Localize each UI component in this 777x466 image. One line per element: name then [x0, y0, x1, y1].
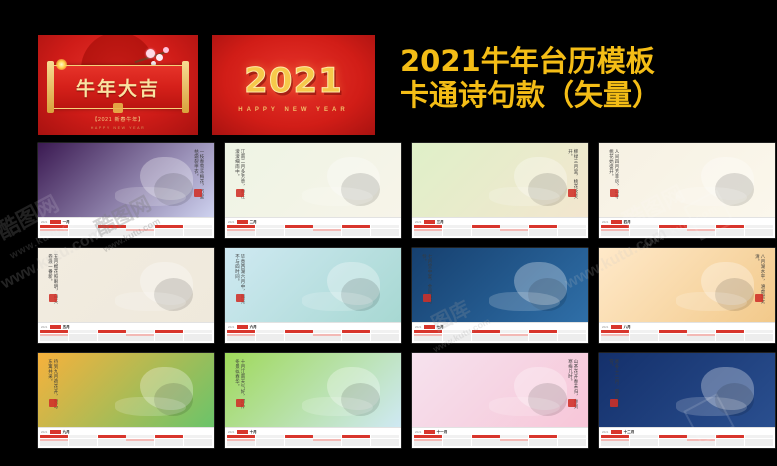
seal-icon	[236, 189, 244, 197]
calendar-strip: 2021十月	[225, 427, 401, 448]
calendar-date-cells	[529, 229, 557, 236]
calendar-week-header	[443, 435, 471, 438]
calendar-week-column[interactable]	[687, 330, 715, 341]
calendar-week-column[interactable]	[716, 435, 744, 446]
calendar-week-column[interactable]	[659, 435, 687, 446]
calendar-week-column[interactable]	[126, 435, 154, 446]
calendar-strip-header: 2021五月	[41, 325, 70, 330]
calendar-date-cell[interactable]	[98, 444, 126, 446]
calendar-week-header	[659, 435, 687, 438]
calendar-date-cell[interactable]	[285, 339, 313, 341]
calendar-date-cell[interactable]	[256, 444, 284, 446]
calendar-week-column[interactable]	[414, 435, 442, 446]
calendar-date-cell[interactable]	[500, 339, 528, 341]
calendar-week-header	[443, 330, 471, 333]
calendar-date-cell[interactable]	[227, 339, 255, 341]
calendar-date-cell[interactable]	[184, 444, 212, 446]
calendar-week-column[interactable]	[500, 330, 528, 341]
calendar-week-header	[745, 330, 773, 333]
calendar-date-cells	[687, 334, 715, 341]
cover-ox-thumbnail[interactable]: 牛年大吉 【2021 新春牛年】 HAPPY NEW YEAR	[38, 35, 198, 135]
calendar-date-cell[interactable]	[285, 234, 313, 236]
calendar-week-column[interactable]	[659, 225, 687, 236]
calendar-date-cell[interactable]	[98, 234, 126, 236]
calendar-date-cell[interactable]	[716, 234, 744, 236]
calendar-date-cell[interactable]	[126, 444, 154, 446]
calendar-date-cells	[342, 229, 370, 236]
calendar-date-cell[interactable]	[443, 234, 471, 236]
calendar-week-column[interactable]	[414, 330, 442, 341]
calendar-week-column[interactable]	[285, 225, 313, 236]
calendar-date-cell[interactable]	[472, 444, 500, 446]
seal-icon	[236, 399, 244, 407]
calendar-strip: 2021五月	[38, 322, 214, 343]
calendar-date-cell[interactable]	[472, 234, 500, 236]
calendar-date-cells	[285, 334, 313, 341]
calendar-page-7[interactable]: 七月堂中宴，金风满可怜。2021七月	[412, 248, 588, 343]
calendar-date-grid	[40, 435, 212, 446]
calendar-week-header	[558, 435, 586, 438]
calendar-strip: 2021二月	[225, 217, 401, 238]
calendar-date-cell[interactable]	[155, 444, 183, 446]
calendar-week-header	[500, 225, 528, 228]
seal-icon	[568, 189, 576, 197]
calendar-date-cells	[414, 439, 442, 446]
calendar-date-cell[interactable]	[313, 234, 341, 236]
calendar-date-grid	[414, 225, 586, 236]
page-title: 2021牛年台历模板 卡通诗句款（矢量）	[400, 44, 768, 112]
calendar-week-header	[630, 225, 658, 228]
calendar-week-column[interactable]	[285, 330, 313, 341]
calendar-date-cell[interactable]	[558, 234, 586, 236]
calendar-week-header	[256, 330, 284, 333]
calendar-date-cell[interactable]	[601, 339, 629, 341]
calendar-artwork-green-tree-desk-scholar: 五月榴花照眼明，白天卷浪一番新。	[38, 248, 214, 323]
calendar-month-label: 四月	[624, 220, 631, 225]
calendar-strip: 2021九月	[38, 427, 214, 448]
calendar-date-cell[interactable]	[414, 234, 442, 236]
calendar-strip: 2021一月	[38, 217, 214, 238]
calendar-year-label: 2021	[41, 326, 48, 329]
calendar-page-1[interactable]: 一枝春雪冻梅花，万里枯霜裂甲衣。2021一月	[38, 143, 214, 238]
calendar-date-cell[interactable]	[227, 234, 255, 236]
calendar-date-cell[interactable]	[69, 339, 97, 341]
calendar-date-cells	[69, 229, 97, 236]
calendar-date-cells	[371, 439, 399, 446]
calendar-week-header	[414, 225, 442, 228]
calendar-strip-header: 2021六月	[228, 325, 257, 330]
calendar-strip: 2021十二月	[599, 427, 775, 448]
calendar-artwork-kite-spring-hills: 江南二月多芳草，春在濛濛细雨中。	[225, 143, 401, 218]
calendar-date-cell[interactable]	[558, 339, 586, 341]
calendar-week-column[interactable]	[184, 435, 212, 446]
cover-ox-subtitle-cn: 【2021 新春牛年】	[38, 116, 198, 123]
calendar-week-header	[285, 330, 313, 333]
calendar-week-column[interactable]	[69, 225, 97, 236]
calendar-week-header	[126, 435, 154, 438]
calendar-week-header	[184, 330, 212, 333]
calendar-date-cell[interactable]	[155, 234, 183, 236]
calendar-date-cell[interactable]	[126, 234, 154, 236]
seal-icon	[49, 399, 57, 407]
lantern-glow-icon	[56, 59, 67, 70]
calendar-date-cells	[472, 439, 500, 446]
calendar-strip-header: 2021一月	[41, 220, 70, 225]
calendar-artwork-lotus-leaf-piglet-lake: 八月湖水平，涵虚混太清。	[599, 248, 775, 323]
calendar-week-column[interactable]	[745, 330, 773, 341]
calendar-date-cell[interactable]	[630, 234, 658, 236]
calendar-strip-header: 2021十一月	[415, 430, 447, 435]
calendar-week-header	[601, 330, 629, 333]
calendar-week-column[interactable]	[601, 225, 629, 236]
calendar-month-label: 七月	[437, 325, 444, 330]
calendar-week-column[interactable]	[414, 225, 442, 236]
calendar-strip-header: 2021二月	[228, 220, 257, 225]
calendar-date-cell[interactable]	[601, 234, 629, 236]
calendar-date-cells	[342, 334, 370, 341]
calendar-date-cell[interactable]	[687, 339, 715, 341]
calendar-week-column[interactable]	[98, 435, 126, 446]
calendar-date-cells	[529, 334, 557, 341]
calendar-page-11[interactable]: 山茶花开春未归，春到寒梅几时。2021十一月	[412, 353, 588, 448]
calendar-page-9[interactable]: 待到九月荷花开，我与东篱共采。2021九月	[38, 353, 214, 448]
calendar-week-column[interactable]	[371, 225, 399, 236]
calendar-date-cell[interactable]	[443, 444, 471, 446]
calendar-date-cells	[745, 334, 773, 341]
calendar-week-header	[472, 330, 500, 333]
calendar-week-column[interactable]	[126, 225, 154, 236]
calendar-date-cell[interactable]	[371, 339, 399, 341]
calendar-date-cells	[659, 439, 687, 446]
calendar-week-header	[371, 225, 399, 228]
calendar-date-cell[interactable]	[40, 339, 68, 341]
calendar-week-header	[227, 330, 255, 333]
calendar-week-column[interactable]	[716, 330, 744, 341]
calendar-week-column[interactable]	[184, 225, 212, 236]
calendar-week-column[interactable]	[558, 435, 586, 446]
artwork-shape-3	[676, 292, 746, 312]
calendar-date-cells	[256, 229, 284, 236]
calendar-week-column[interactable]	[472, 225, 500, 236]
calendar-week-header	[630, 330, 658, 333]
calendar-week-column[interactable]	[472, 435, 500, 446]
calendar-date-cells	[184, 439, 212, 446]
calendar-date-cells	[155, 334, 183, 341]
calendar-date-cells	[40, 229, 68, 236]
calendar-week-column[interactable]	[155, 225, 183, 236]
calendar-date-cell[interactable]	[500, 234, 528, 236]
calendar-week-column[interactable]	[529, 225, 557, 236]
calendar-strip-header: 2021四月	[602, 220, 631, 225]
calendar-week-column[interactable]	[745, 225, 773, 236]
calendar-date-cells	[630, 229, 658, 236]
calendar-year-label: 2021	[602, 221, 609, 224]
calendar-date-cell[interactable]	[630, 339, 658, 341]
calendar-date-cell[interactable]	[256, 234, 284, 236]
calendar-month-label: 三月	[437, 220, 444, 225]
calendar-page-8[interactable]: 八月湖水平，涵虚混太清。2021八月	[599, 248, 775, 343]
calendar-date-cell[interactable]	[40, 234, 68, 236]
calendar-week-header	[529, 330, 557, 333]
calendar-week-column[interactable]	[745, 435, 773, 446]
calendar-week-header	[716, 435, 744, 438]
calendar-page-5[interactable]: 五月榴花照眼明，白天卷浪一番新。2021五月	[38, 248, 214, 343]
calendar-week-column[interactable]	[529, 435, 557, 446]
calendar-week-column[interactable]	[69, 435, 97, 446]
calendar-date-cells	[558, 334, 586, 341]
calendar-date-cells	[155, 439, 183, 446]
calendar-week-header	[40, 225, 68, 228]
calendar-year-label: 2021	[228, 326, 235, 329]
calendar-week-column[interactable]	[256, 435, 284, 446]
calendar-strip: 2021八月	[599, 322, 775, 343]
calendar-date-cell[interactable]	[342, 339, 370, 341]
calendar-week-header	[256, 435, 284, 438]
calendar-date-cell[interactable]	[529, 444, 557, 446]
calendar-week-header	[371, 435, 399, 438]
calendar-week-column[interactable]	[630, 330, 658, 341]
calendar-date-cell[interactable]	[414, 339, 442, 341]
calendar-date-cell[interactable]	[716, 339, 744, 341]
calendar-date-cells	[155, 229, 183, 236]
calendar-week-header	[558, 225, 586, 228]
calendar-grid: 一枝春雪冻梅花，万里枯霜裂甲衣。2021一月江南二月多芳草，春在濛濛细雨中。20…	[0, 140, 777, 466]
calendar-week-column[interactable]	[558, 330, 586, 341]
calendar-week-column[interactable]	[443, 330, 471, 341]
calendar-week-column[interactable]	[40, 225, 68, 236]
calendar-date-grid	[601, 330, 773, 341]
calendar-week-header	[687, 330, 715, 333]
calendar-week-column[interactable]	[601, 435, 629, 446]
calendar-date-cells	[500, 439, 528, 446]
calendar-artwork-plum-window-old-man: 山茶花开春未归，春到寒梅几时。	[412, 353, 588, 428]
calendar-date-cell[interactable]	[601, 444, 629, 446]
calendar-artwork-west-lake-crane-lady: 毕竟西湖六月中，风光不与四时同。	[225, 248, 401, 323]
calendar-strip-header: 2021三月	[415, 220, 444, 225]
calendar-date-cell[interactable]	[285, 444, 313, 446]
calendar-week-header	[98, 435, 126, 438]
calendar-week-header	[313, 225, 341, 228]
calendar-date-cells	[371, 229, 399, 236]
calendar-page-6[interactable]: 毕竟西湖六月中，风光不与四时同。2021六月	[225, 248, 401, 343]
calendar-week-column[interactable]	[659, 330, 687, 341]
calendar-week-column[interactable]	[98, 330, 126, 341]
calendar-week-column[interactable]	[227, 330, 255, 341]
calendar-date-cells	[98, 439, 126, 446]
calendar-date-grid	[40, 330, 212, 341]
calendar-date-cells	[371, 334, 399, 341]
calendar-week-column[interactable]	[342, 435, 370, 446]
calendar-date-cells	[69, 334, 97, 341]
calendar-week-header	[500, 435, 528, 438]
calendar-date-cell[interactable]	[659, 444, 687, 446]
calendar-date-cells	[630, 334, 658, 341]
calendar-page-12[interactable]: 寒冬十二月，孤舟独钓雪。2021十二月	[599, 353, 775, 448]
calendar-week-column[interactable]	[371, 435, 399, 446]
seal-icon	[194, 189, 202, 197]
calendar-strip-header: 2021七月	[415, 325, 444, 330]
calendar-date-cells	[256, 439, 284, 446]
calendar-date-cell[interactable]	[184, 339, 212, 341]
calendar-date-cell[interactable]	[184, 234, 212, 236]
calendar-week-column[interactable]	[227, 435, 255, 446]
calendar-week-column[interactable]	[371, 330, 399, 341]
artwork-shape-3	[302, 187, 372, 207]
calendar-date-cells	[285, 229, 313, 236]
calendar-week-column[interactable]	[155, 435, 183, 446]
calendar-date-cell[interactable]	[313, 444, 341, 446]
calendar-week-column[interactable]	[630, 225, 658, 236]
calendar-date-cells	[558, 229, 586, 236]
calendar-week-header	[414, 330, 442, 333]
calendar-strip: 2021七月	[412, 322, 588, 343]
calendar-date-cells	[313, 439, 341, 446]
calendar-week-column[interactable]	[313, 330, 341, 341]
calendar-week-column[interactable]	[558, 225, 586, 236]
calendar-date-grid	[227, 435, 399, 446]
calendar-week-column[interactable]	[342, 330, 370, 341]
cover-ox-subtitle-en: HAPPY NEW YEAR	[38, 126, 198, 130]
calendar-week-column[interactable]	[313, 435, 341, 446]
artwork-shape-3	[115, 187, 185, 207]
header-row: 牛年大吉 【2021 新春牛年】 HAPPY NEW YEAR 2021 HAP…	[0, 0, 777, 140]
calendar-date-cell[interactable]	[630, 444, 658, 446]
calendar-week-header	[40, 330, 68, 333]
calendar-date-cell[interactable]	[414, 444, 442, 446]
calendar-date-cell[interactable]	[659, 234, 687, 236]
artwork-shape-3	[302, 292, 372, 312]
calendar-week-column[interactable]	[155, 330, 183, 341]
calendar-date-cell[interactable]	[40, 444, 68, 446]
calendar-artwork-moon-night-balcony: 七月堂中宴，金风满可怜。	[412, 248, 588, 323]
calendar-week-header	[371, 330, 399, 333]
calendar-strip-header: 2021十二月	[602, 430, 634, 435]
calendar-date-cells	[227, 229, 255, 236]
calendar-date-cell[interactable]	[500, 444, 528, 446]
calendar-month-label: 十一月	[437, 430, 448, 435]
calendar-date-cells	[40, 334, 68, 341]
cover-2021-thumbnail[interactable]: 2021 HAPPY NEW YEAR	[212, 35, 375, 135]
calendar-year-label: 2021	[415, 431, 422, 434]
calendar-date-cell[interactable]	[371, 234, 399, 236]
calendar-week-column[interactable]	[256, 225, 284, 236]
calendar-year-label: 2021	[602, 326, 609, 329]
calendar-week-column[interactable]	[601, 330, 629, 341]
calendar-week-column[interactable]	[227, 225, 255, 236]
calendar-page-3[interactable]: 柳绿三月里，桃花含笑开。2021三月	[412, 143, 588, 238]
calendar-week-header	[601, 225, 629, 228]
calendar-date-cells	[443, 439, 471, 446]
calendar-date-cells	[184, 229, 212, 236]
calendar-week-column[interactable]	[342, 225, 370, 236]
calendar-date-cell[interactable]	[98, 339, 126, 341]
calendar-date-cell[interactable]	[745, 444, 773, 446]
calendar-date-cell[interactable]	[443, 339, 471, 341]
calendar-week-column[interactable]	[98, 225, 126, 236]
calendar-date-cell[interactable]	[716, 444, 744, 446]
calendar-date-cell[interactable]	[313, 339, 341, 341]
calendar-date-cell[interactable]	[342, 444, 370, 446]
blossom-icon	[146, 49, 155, 58]
calendar-date-cells	[313, 229, 341, 236]
calendar-artwork-lantern-couple-snow: 一枝春雪冻梅花，万里枯霜裂甲衣。	[38, 143, 214, 218]
calendar-week-header	[126, 225, 154, 228]
calendar-week-column[interactable]	[500, 435, 528, 446]
calendar-date-cell[interactable]	[745, 234, 773, 236]
calendar-week-column[interactable]	[285, 435, 313, 446]
calendar-page-4[interactable]: 人间四月芳菲尽，山寺桃花始盛开。2021四月	[599, 143, 775, 238]
calendar-week-header	[529, 435, 557, 438]
calendar-week-header	[558, 330, 586, 333]
calendar-page-2[interactable]: 江南二月多芳草，春在濛濛细雨中。2021二月	[225, 143, 401, 238]
calendar-date-cell[interactable]	[371, 444, 399, 446]
calendar-week-column[interactable]	[500, 225, 528, 236]
calendar-date-cell[interactable]	[227, 444, 255, 446]
calendar-month-label: 五月	[63, 325, 70, 330]
calendar-week-column[interactable]	[472, 330, 500, 341]
calendar-date-cell[interactable]	[126, 339, 154, 341]
calendar-date-cell[interactable]	[256, 339, 284, 341]
calendar-date-cell[interactable]	[558, 444, 586, 446]
calendar-page-10[interactable]: 十月江南天气好，可怜冬景似春华。2021十月	[225, 353, 401, 448]
artwork-shape-3	[489, 292, 559, 312]
artwork-shape-3	[302, 397, 372, 417]
calendar-week-header	[601, 435, 629, 438]
calendar-date-cell[interactable]	[342, 234, 370, 236]
calendar-week-column[interactable]	[256, 330, 284, 341]
calendar-date-cell[interactable]	[69, 444, 97, 446]
calendar-month-label: 二月	[250, 220, 257, 225]
calendar-week-header	[285, 435, 313, 438]
calendar-week-header	[126, 330, 154, 333]
calendar-date-cells	[98, 229, 126, 236]
calendar-date-cell[interactable]	[529, 234, 557, 236]
seal-icon	[113, 103, 123, 113]
calendar-week-column[interactable]	[69, 330, 97, 341]
calendar-strip: 2021四月	[599, 217, 775, 238]
calendar-week-column[interactable]	[126, 330, 154, 341]
calendar-date-cell[interactable]	[69, 234, 97, 236]
calendar-date-cells	[745, 439, 773, 446]
calendar-date-cell[interactable]	[472, 339, 500, 341]
calendar-week-header	[745, 225, 773, 228]
calendar-date-cells	[716, 334, 744, 341]
calendar-week-column[interactable]	[184, 330, 212, 341]
calendar-week-column[interactable]	[40, 435, 68, 446]
calendar-week-header	[69, 435, 97, 438]
calendar-year-label: 2021	[41, 431, 48, 434]
calendar-date-cells	[285, 439, 313, 446]
calendar-date-cell[interactable]	[745, 339, 773, 341]
calendar-date-cell[interactable]	[155, 339, 183, 341]
calendar-week-column[interactable]	[529, 330, 557, 341]
calendar-week-column[interactable]	[443, 225, 471, 236]
calendar-week-header	[155, 435, 183, 438]
calendar-date-cells	[716, 439, 744, 446]
calendar-week-column[interactable]	[40, 330, 68, 341]
calendar-date-cell[interactable]	[529, 339, 557, 341]
calendar-week-column[interactable]	[443, 435, 471, 446]
calendar-week-header	[69, 225, 97, 228]
calendar-artwork-golden-field-harvest: 待到九月荷花开，我与东篱共采。	[38, 353, 214, 428]
calendar-accent-bar	[424, 325, 435, 329]
calendar-week-column[interactable]	[313, 225, 341, 236]
calendar-artwork-willow-donkey-signpost: 柳绿三月里，桃花含笑开。	[412, 143, 588, 218]
calendar-date-grid	[414, 330, 586, 341]
calendar-week-column[interactable]	[630, 435, 658, 446]
calendar-week-header	[529, 225, 557, 228]
calendar-date-cell[interactable]	[659, 339, 687, 341]
